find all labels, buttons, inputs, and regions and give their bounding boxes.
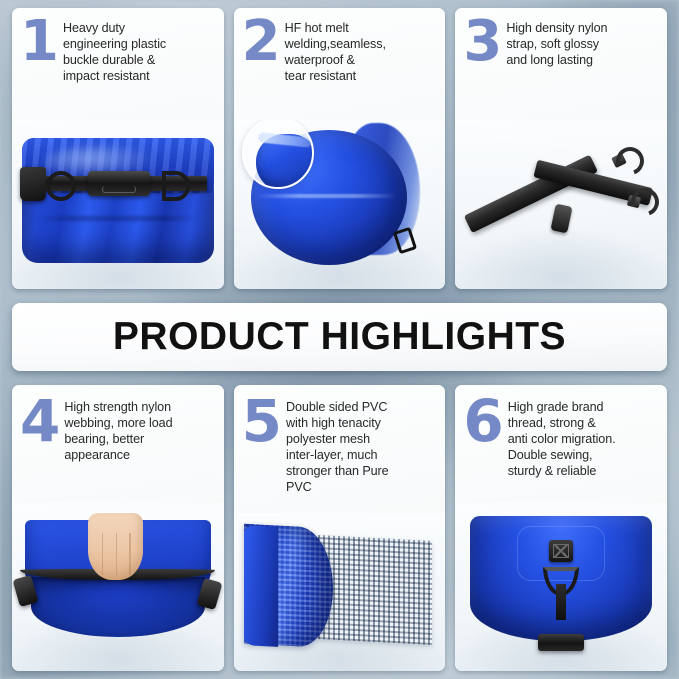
feature-row-top: 1 Heavy duty engineering plastic buckle … [12,8,667,289]
feature-card-2[interactable]: 2 HF hot melt welding,seamless, waterpro… [234,8,446,289]
plastic-buckle [88,171,150,196]
strap-hook-icon [20,167,46,201]
feature-header-1: 1 Heavy duty engineering plastic buckle … [12,8,224,85]
feature-row-bottom: 4 High strength nylon webbing, more load… [12,385,667,671]
feature-card-3[interactable]: 3 High density nylon strap, soft glossy … [455,8,667,289]
infographic-root: 1 Heavy duty engineering plastic buckle … [0,0,679,679]
feature-number-1: 1 [20,19,57,65]
feature-number-5: 5 [242,398,280,446]
feature-image-2 [234,120,446,289]
polyester-mesh-layer [318,535,432,645]
feature-header-4: 4 High strength nylon webbing, more load… [12,385,224,464]
feature-image-5 [234,513,446,671]
feature-text-5: Double sided PVC with high tenacity poly… [286,397,436,496]
stitched-patch-icon [549,540,573,562]
magnifier-callout-circle [242,120,314,189]
feature-card-4[interactable]: 4 High strength nylon webbing, more load… [12,385,224,671]
finger-separator [129,533,131,575]
feature-header-2: 2 HF hot melt welding,seamless, waterpro… [234,8,446,85]
feature-text-4: High strength nylon webbing, more load b… [64,397,214,464]
feature-header-6: 6 High grade brand thread, strong & anti… [455,385,667,480]
dry-bag-fold [37,216,198,221]
finger-separator [116,533,118,575]
hand-gripping-handle [88,513,143,580]
strap-ring-icon [46,171,76,201]
feature-text-6: High grade brand thread, strong & anti c… [508,397,658,480]
feature-image-6 [455,503,667,671]
feature-number-3: 3 [463,19,500,65]
webbing-clip-icon [538,634,584,651]
banner-title: PRODUCT HIGHLIGHTS [113,315,566,359]
finger-separator [102,533,104,575]
feature-text-3: High density nylon strap, soft glossy an… [506,18,658,69]
feature-text-2: HF hot melt welding,seamless, waterproof… [285,18,437,85]
pvc-curled-edge [244,525,278,647]
feature-number-6: 6 [463,398,501,446]
feature-header-3: 3 High density nylon strap, soft glossy … [455,8,667,69]
feature-card-1[interactable]: 1 Heavy duty engineering plastic buckle … [12,8,224,289]
strap-d-ring-icon [162,171,190,201]
feature-image-3 [455,120,667,289]
product-highlights-banner: PRODUCT HIGHLIGHTS [12,303,667,371]
welded-seam-line [257,194,397,198]
feature-image-4 [12,503,224,671]
feature-header-5: 5 Double sided PVC with high tenacity po… [234,385,446,496]
feature-number-4: 4 [20,398,58,446]
strap-tail [556,584,566,620]
feature-card-5[interactable]: 5 Double sided PVC with high tenacity po… [234,385,446,671]
feature-number-2: 2 [242,19,279,65]
dry-bag-body [22,138,214,263]
feature-image-1 [12,120,224,289]
feature-card-6[interactable]: 6 High grade brand thread, strong & anti… [455,385,667,671]
bag-interior [31,577,205,637]
feature-text-1: Heavy duty engineering plastic buckle du… [63,18,215,85]
